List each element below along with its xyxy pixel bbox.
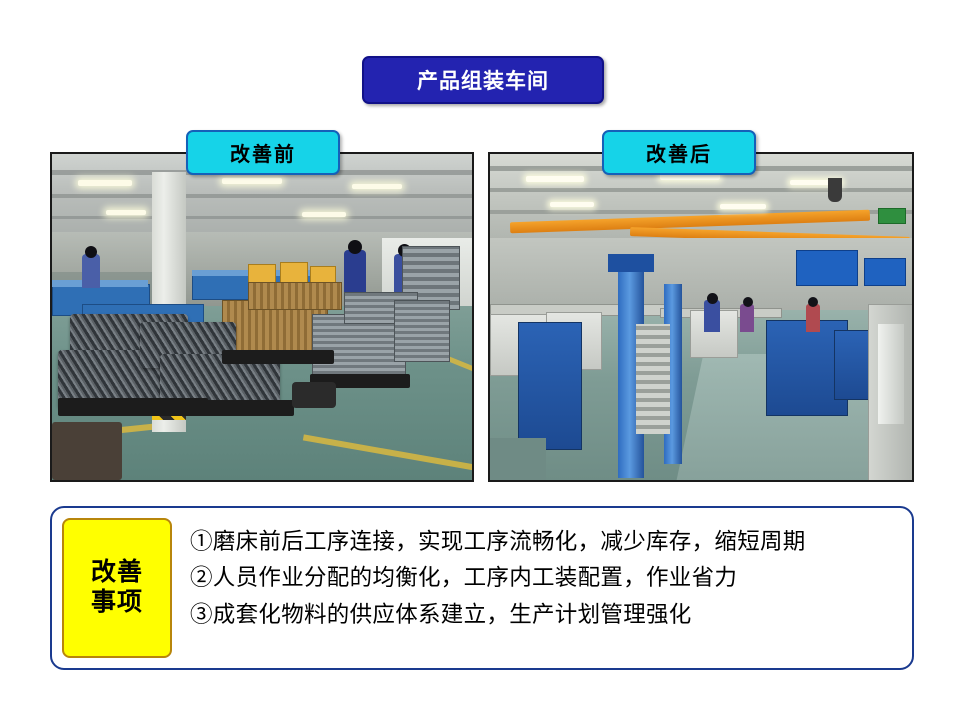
ceiling-beam	[52, 216, 472, 219]
wire-crate	[394, 300, 450, 362]
blue-machine	[518, 322, 582, 450]
improvement-tag-line2: 事项	[91, 588, 143, 619]
ceiling-lamp	[78, 180, 132, 186]
worker	[704, 300, 720, 332]
worker-head	[348, 240, 362, 254]
ceiling-lamp	[302, 212, 346, 217]
yellow-bin	[248, 264, 276, 284]
column-cap	[608, 254, 654, 272]
improvement-tag: 改善 事项	[62, 518, 172, 658]
part-stack	[636, 324, 670, 434]
worker	[740, 304, 754, 332]
improvement-item: ①磨床前后工序连接，实现工序流畅化，减少库存，缩短周期	[190, 524, 890, 560]
info-board	[796, 250, 858, 286]
improvement-items: ①磨床前后工序连接，实现工序流畅化，减少库存，缩短周期 ②人员作业分配的均衡化，…	[190, 524, 890, 633]
wooden-crate	[248, 282, 342, 310]
exit-sign	[878, 208, 906, 224]
worker	[82, 254, 100, 288]
slide-title-banner: 产品组装车间	[362, 56, 604, 104]
worker-head	[85, 246, 97, 258]
label-after-text: 改善后	[646, 138, 712, 167]
worker-head	[707, 293, 718, 304]
ceiling-beam	[490, 188, 912, 192]
hanging-lamp	[828, 178, 842, 202]
ceiling-lamp	[526, 176, 584, 182]
ceiling-lamp	[222, 178, 282, 184]
photo-after-content	[490, 154, 912, 480]
photo-before	[50, 152, 474, 482]
ceiling-lamp	[106, 210, 146, 215]
workbench-top	[52, 280, 148, 287]
ceiling-beam	[52, 194, 472, 198]
ceiling-lamp	[550, 202, 594, 207]
pallet	[170, 400, 294, 416]
label-before: 改善前	[186, 130, 340, 175]
trolley	[292, 382, 336, 408]
foreground-floor	[490, 438, 546, 480]
improvement-tag-line1: 改善	[91, 558, 143, 589]
photo-after	[488, 152, 914, 482]
worker	[344, 250, 366, 296]
pallet	[222, 350, 334, 364]
ceiling-lamp	[720, 204, 766, 209]
label-after: 改善后	[602, 130, 756, 175]
improvement-item: ③成套化物料的供应体系建立，生产计划管理强化	[190, 597, 890, 633]
worker-head	[743, 297, 753, 307]
improvement-item: ②人员作业分配的均衡化，工序内工装配置，作业省力	[190, 560, 890, 596]
label-before-text: 改善前	[230, 138, 296, 167]
page-title: 产品组装车间	[417, 65, 549, 95]
yellow-bin	[280, 262, 308, 284]
photo-before-content	[52, 154, 472, 480]
foreground-object	[52, 422, 122, 480]
worker-head	[808, 297, 818, 307]
cabinet-door	[878, 324, 904, 424]
ceiling-lamp	[352, 184, 402, 189]
info-board	[864, 258, 906, 286]
worker	[806, 304, 820, 332]
